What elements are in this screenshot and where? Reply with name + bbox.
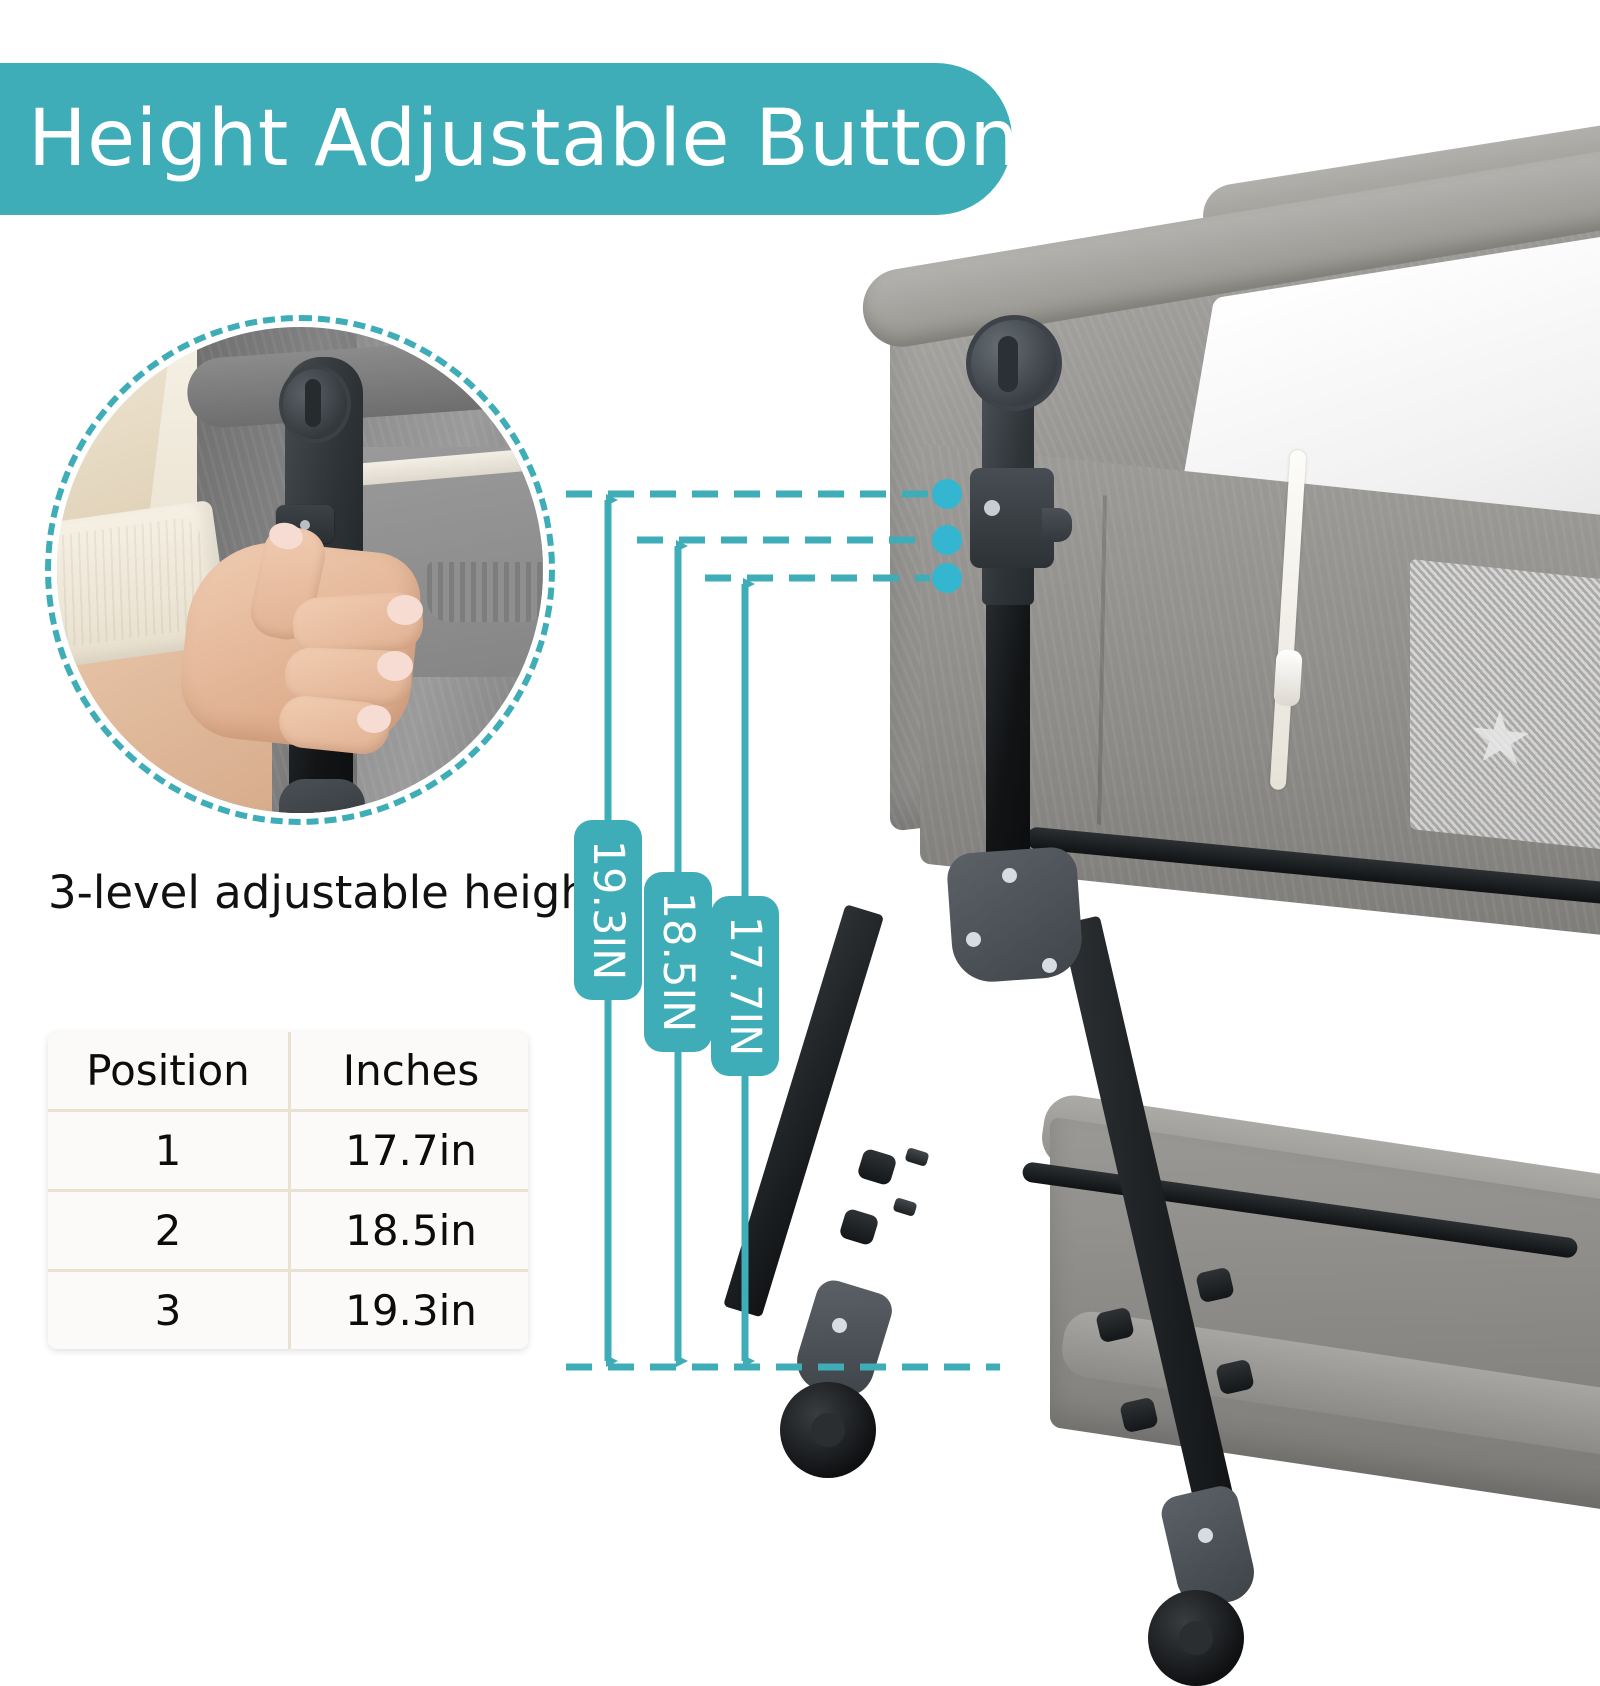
- cell-inches: 17.7in: [291, 1112, 528, 1189]
- dimension-badge-label: 18.5IN: [653, 892, 703, 1033]
- dimension-badge-185: 18.5IN: [644, 872, 712, 1052]
- column-header-inches: Inches: [291, 1032, 528, 1109]
- dimension-badge-label: 17.7IN: [720, 916, 770, 1057]
- column-header-position: Position: [48, 1032, 291, 1109]
- height-release-button: [1042, 508, 1072, 542]
- inset-photo-circle: [45, 315, 555, 825]
- inset-caption: 3-level adjustable height: [48, 866, 568, 919]
- height-positions-table: Position Inches 1 17.7in 2 18.5in 3 19.3…: [48, 1032, 528, 1349]
- cell-position: 3: [48, 1272, 291, 1349]
- dashed-circle-border: [45, 315, 555, 825]
- bassinet-product-photo: [770, 150, 1600, 1610]
- table-row: 3 19.3in: [48, 1272, 528, 1349]
- table-row: 1 17.7in: [48, 1112, 528, 1192]
- infographic-stage: Height Adjustable Button: [0, 0, 1600, 1600]
- table-header-row: Position Inches: [48, 1032, 528, 1112]
- table-row: 2 18.5in: [48, 1192, 528, 1272]
- cell-inches: 18.5in: [291, 1192, 528, 1269]
- zipper-pull: [1273, 649, 1302, 706]
- dimension-badge-177: 17.7IN: [711, 896, 779, 1076]
- cell-position: 1: [48, 1112, 291, 1189]
- dimension-badge-label: 19.3IN: [583, 840, 633, 981]
- leg-joint-hub: [946, 846, 1085, 985]
- cell-position: 2: [48, 1192, 291, 1269]
- cell-inches: 19.3in: [291, 1272, 528, 1349]
- mesh-side-panel: [1410, 559, 1600, 851]
- dimension-badge-193: 19.3IN: [574, 820, 642, 1000]
